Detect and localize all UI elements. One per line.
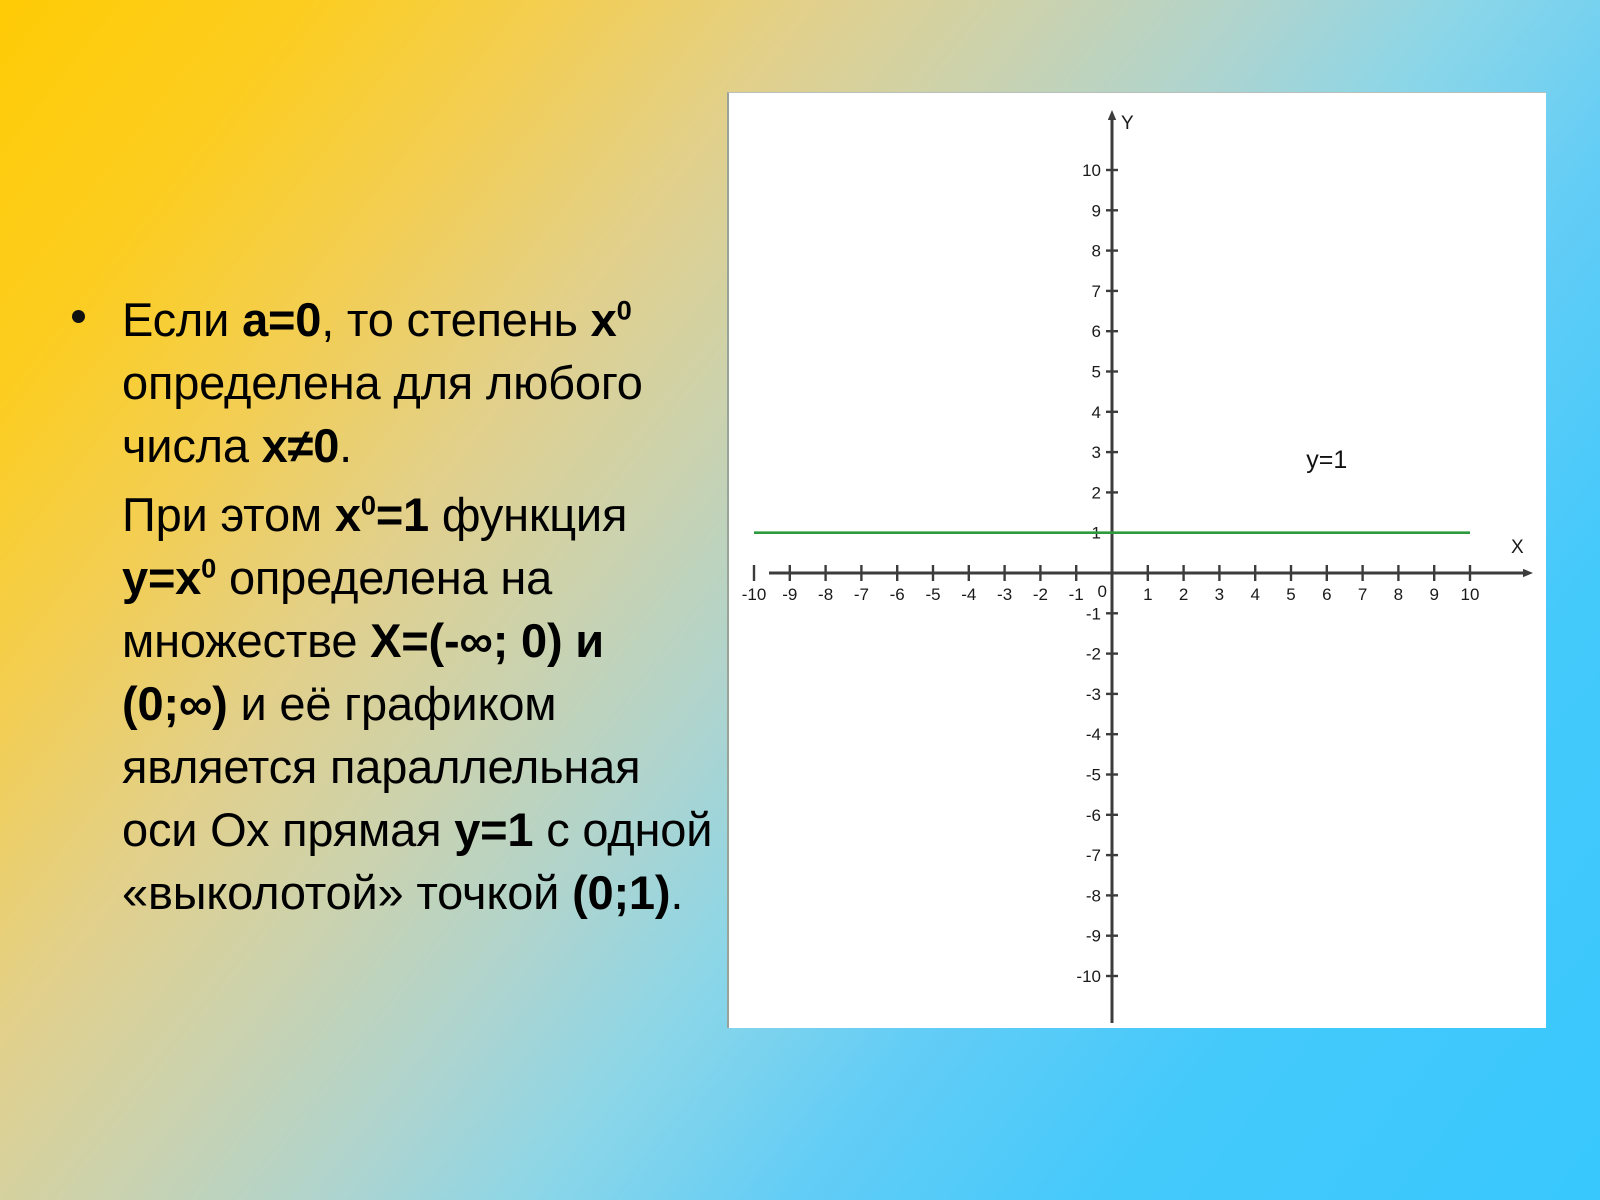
y-tick-label: 4 xyxy=(1092,403,1101,422)
x-tick-label: 6 xyxy=(1322,585,1331,604)
paragraph-2-text: При этом x0=1 функция y=x0 определена на… xyxy=(122,488,712,919)
x-tick-label: -9 xyxy=(782,585,797,604)
y-tick-label: -4 xyxy=(1086,725,1101,744)
x-axis-label: X xyxy=(1511,537,1524,558)
y-tick-label: -7 xyxy=(1086,846,1101,865)
y-tick-label: 2 xyxy=(1092,483,1101,502)
y-tick-label: 6 xyxy=(1092,322,1101,341)
y-tick-label: -6 xyxy=(1086,806,1101,825)
y-tick-label: 8 xyxy=(1092,242,1101,261)
x-tick-label: -3 xyxy=(997,585,1012,604)
x-tick-label: 5 xyxy=(1286,585,1295,604)
y-tick-label: 5 xyxy=(1092,363,1101,382)
origin-label: 0 xyxy=(1098,582,1107,601)
bullet-paragraph-1: Если a=0, то степень x0 определена для л… xyxy=(60,288,720,477)
y-tick-label: 10 xyxy=(1082,161,1101,180)
y-tick-label: -9 xyxy=(1086,927,1101,946)
text-column: Если a=0, то степень x0 определена для л… xyxy=(60,288,720,924)
y-tick-label: 3 xyxy=(1092,443,1101,462)
x-tick-label: -10 xyxy=(742,585,767,604)
chart-axes: X Y xyxy=(769,113,1524,1023)
x-tick-label: 8 xyxy=(1394,585,1403,604)
x-tick-label: -7 xyxy=(854,585,869,604)
bullet-marker-icon xyxy=(72,310,85,323)
y-tick-label: -3 xyxy=(1086,685,1101,704)
x-tick-label: -4 xyxy=(961,585,976,604)
paragraph-2: При этом x0=1 функция y=x0 определена на… xyxy=(60,483,720,924)
x-tick-label: -2 xyxy=(1033,585,1048,604)
x-tick-label: -6 xyxy=(890,585,905,604)
y-tick-label: -1 xyxy=(1086,604,1101,623)
x-tick-label: 4 xyxy=(1250,585,1259,604)
x-tick-label: 2 xyxy=(1179,585,1188,604)
x-tick-label: 10 xyxy=(1461,585,1480,604)
y-tick-label: -10 xyxy=(1076,967,1101,986)
x-tick-label: 9 xyxy=(1429,585,1438,604)
slide-canvas: Если a=0, то степень x0 определена для л… xyxy=(0,0,1600,1200)
y-tick-label: -8 xyxy=(1086,886,1101,905)
x-tick-label: 3 xyxy=(1215,585,1224,604)
x-tick-label: 7 xyxy=(1358,585,1367,604)
y-tick-label: 9 xyxy=(1092,201,1101,220)
graph-panel: X Y -10-9-8-7-6-5-4-3-2-112345678910 109… xyxy=(727,92,1546,1028)
paragraph-1-text: Если a=0, то степень x0 определена для л… xyxy=(122,293,643,472)
y-tick-label: -2 xyxy=(1086,645,1101,664)
y-tick-label: 7 xyxy=(1092,282,1101,301)
y-axis-label: Y xyxy=(1121,113,1134,134)
x-tick-label: -1 xyxy=(1069,585,1084,604)
x-tick-label: -5 xyxy=(925,585,940,604)
function-annotation: y=1 xyxy=(1306,446,1347,474)
x-tick-label: -8 xyxy=(818,585,833,604)
coordinate-plane-chart: X Y -10-9-8-7-6-5-4-3-2-112345678910 109… xyxy=(729,93,1548,1029)
y-tick-label: -5 xyxy=(1086,766,1101,785)
x-tick-label: 1 xyxy=(1143,585,1152,604)
